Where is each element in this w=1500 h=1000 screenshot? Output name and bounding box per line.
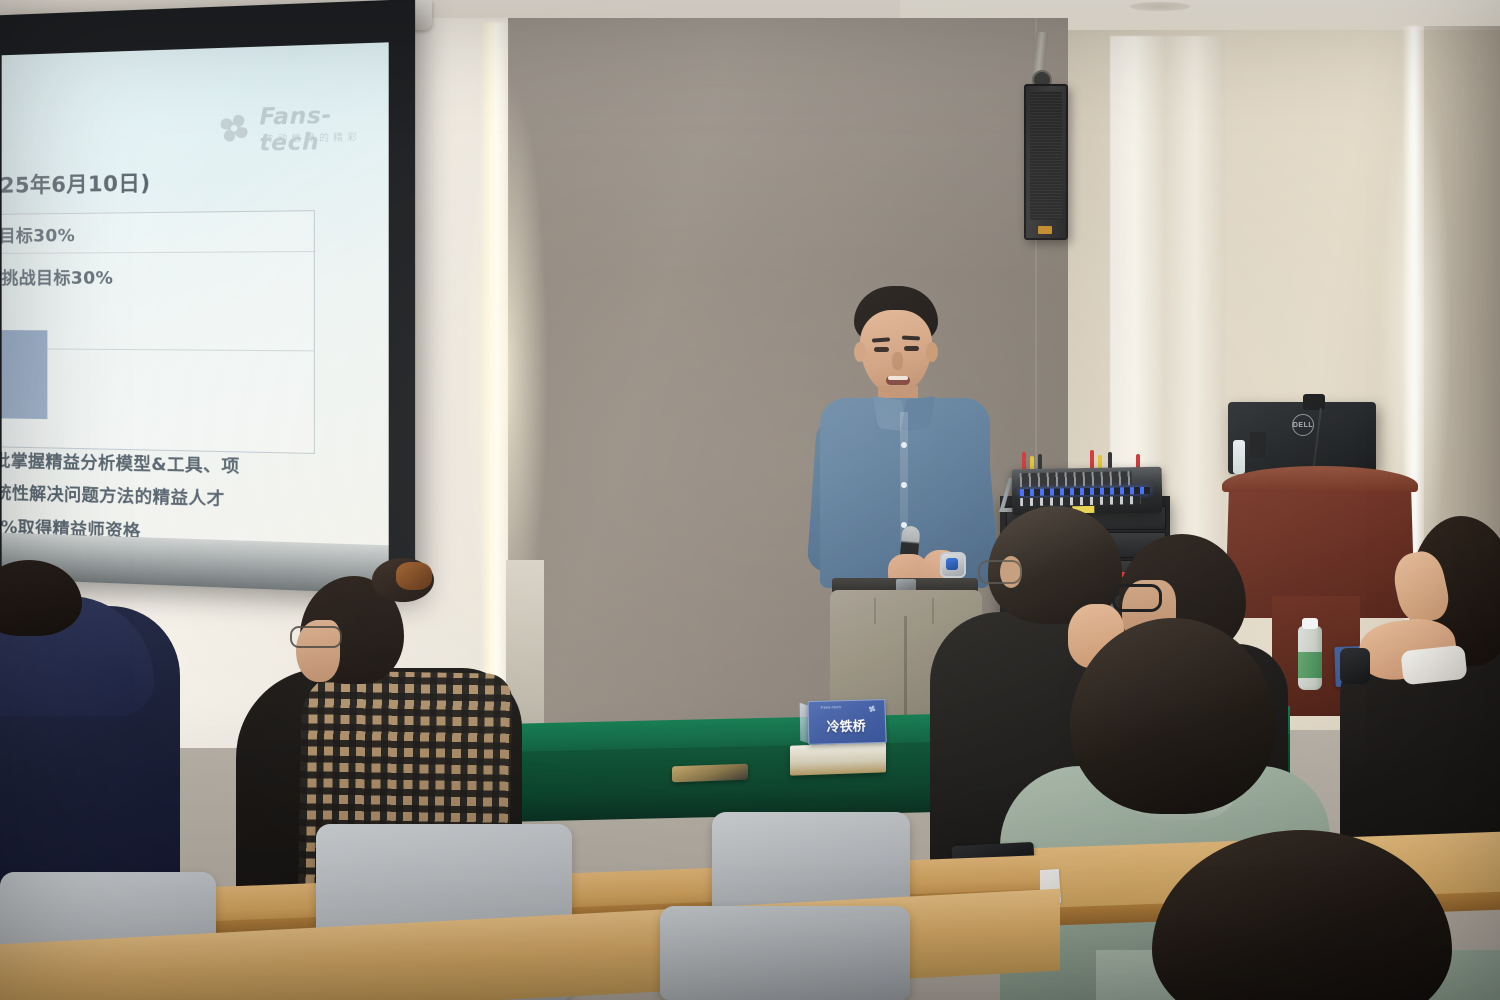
audience-glasses-icon [1112, 584, 1162, 612]
presenter-nose [892, 352, 903, 370]
slide-bullet-1-line-2: 目管理、系统性解决问题方法的精益人才 [2, 476, 225, 510]
smartwatch-face-icon [946, 558, 958, 570]
fanstech-logo: Fans-tech 转动世界的精彩 [215, 102, 364, 157]
phone-on-stage [672, 764, 748, 783]
placard-logo-icon [867, 704, 876, 713]
slide-table-row [2, 348, 315, 454]
meeting-room-photo: 标 Fans-tech 转动世界的精彩 0日~2025年6月1 [0, 0, 1500, 1000]
projection-screen-surface: 标 Fans-tech 转动世界的精彩 0日~2025年6月1 [2, 42, 389, 562]
presenter-ear-right [926, 342, 938, 362]
presenter-pocket-right [932, 598, 968, 624]
wall-speaker [1024, 84, 1068, 240]
presenter-shirt-button [901, 442, 907, 448]
presenter-eye-right [904, 346, 919, 351]
projection-screen: 标 Fans-tech 转动世界的精彩 0日~2025年6月1 [0, 0, 415, 595]
audience-glasses-icon [978, 560, 1022, 584]
ceiling-recessed-light [1130, 2, 1190, 11]
speaker-brand-badge [1038, 226, 1052, 234]
name-placard: Fans-tech 冷铁桥 [800, 699, 885, 745]
podium-microphone [1250, 432, 1266, 458]
podium-bottle [1233, 440, 1245, 474]
slide-kpi-box [2, 329, 48, 419]
placard-name-text: 冷铁桥 [814, 715, 879, 736]
led-strip-left [480, 22, 508, 722]
water-bottle-label [1298, 652, 1322, 678]
presenter-eye-left [874, 347, 889, 352]
presenter-pocket-left [840, 598, 876, 624]
presenter-trouser-seam [904, 616, 907, 716]
audience-shirt-cuff [1400, 645, 1467, 686]
slide-row-b-text: 1、标杆线挑战目标30% [2, 263, 114, 289]
slide-date-range: 0日~2025年6月10日) [2, 167, 151, 201]
mixer-knobs[interactable] [1020, 496, 1140, 506]
slide-content: 标 Fans-tech 转动世界的精彩 0日~2025年6月1 [2, 48, 389, 562]
mixer-led-row-icon [1020, 487, 1150, 496]
woman-glasses-icon [290, 626, 342, 648]
chair [660, 906, 910, 1000]
fanstech-tagline: 转动世界的精彩 [264, 130, 362, 146]
mixer-faders[interactable] [1020, 471, 1132, 487]
speaker-grille-icon [1030, 91, 1062, 220]
presenter-teeth [888, 376, 908, 380]
dell-logo: DELL [1292, 414, 1314, 436]
slide-row-a-text: 标杆线挑战目标30% [2, 221, 76, 247]
presenter-ear-left [854, 342, 866, 362]
water-bottle-cap [1302, 618, 1318, 629]
presenter-smartwatch [940, 552, 966, 578]
audience-watch [1340, 648, 1370, 684]
presenter-eyebrow-right [902, 336, 920, 341]
fanstech-logo-mark-icon [215, 109, 253, 147]
woman-hair-clip [396, 562, 432, 590]
placard-brand: Fans-tech [821, 704, 842, 709]
presenter-shirt-button [901, 482, 907, 488]
open-notebook [790, 742, 886, 775]
